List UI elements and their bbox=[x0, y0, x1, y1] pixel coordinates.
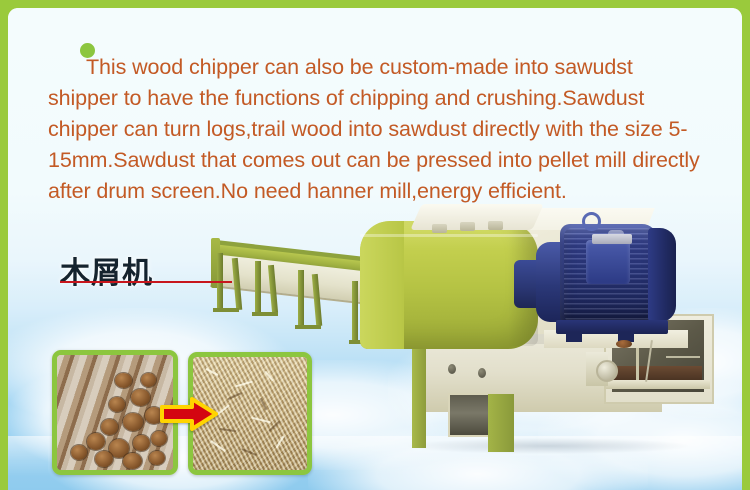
motor-fan-cover bbox=[648, 228, 676, 322]
inspection-port bbox=[478, 368, 486, 378]
grease-nipple bbox=[616, 340, 632, 348]
motor-foot bbox=[566, 332, 582, 342]
ground-shadow bbox=[408, 438, 688, 454]
log-end bbox=[115, 373, 132, 388]
log-end bbox=[149, 451, 165, 465]
drum-end-face bbox=[360, 221, 404, 349]
process-flow-arrow-icon bbox=[160, 397, 218, 431]
banner-stage: This wood chipper can also be custom-mad… bbox=[8, 8, 742, 490]
motor-nameplate bbox=[592, 234, 632, 244]
support-rod bbox=[666, 356, 700, 358]
chute-roller bbox=[596, 360, 618, 382]
drum-cowl bbox=[410, 204, 544, 230]
log-end bbox=[133, 435, 150, 451]
motor-lifting-eye bbox=[582, 212, 601, 231]
log-end bbox=[71, 445, 87, 460]
callout-label: 木屑机 bbox=[60, 248, 153, 292]
log-end bbox=[151, 431, 167, 446]
log-end bbox=[95, 451, 113, 467]
conveyor-leg bbox=[255, 261, 261, 313]
conveyor-leg bbox=[298, 270, 304, 326]
motor-junction-box bbox=[586, 240, 630, 284]
log-end bbox=[141, 373, 156, 387]
cowl-bracket bbox=[432, 224, 447, 233]
conveyor-leg bbox=[352, 281, 358, 341]
conveyor-foot bbox=[252, 312, 278, 316]
cowl-bracket bbox=[460, 222, 475, 231]
headline-paragraph: This wood chipper can also be custom-mad… bbox=[48, 52, 708, 207]
log-end bbox=[101, 419, 118, 435]
machine-green-skirt bbox=[412, 338, 426, 448]
product-banner: This wood chipper can also be custom-mad… bbox=[0, 0, 750, 490]
chute-lip bbox=[606, 380, 710, 389]
log-end bbox=[123, 453, 142, 469]
log-end bbox=[123, 413, 143, 431]
drum-highlight bbox=[360, 234, 538, 237]
machine-green-skirt bbox=[488, 394, 514, 452]
log-end bbox=[131, 389, 150, 406]
cowl-bracket bbox=[488, 221, 503, 230]
conveyor-foot bbox=[295, 325, 321, 329]
log-end bbox=[109, 397, 125, 412]
callout-pointer-line bbox=[60, 281, 232, 283]
inspection-port bbox=[448, 364, 456, 374]
chute-conveyor-belt bbox=[614, 366, 702, 380]
conveyor-foot bbox=[213, 308, 239, 312]
log-end bbox=[87, 433, 105, 450]
